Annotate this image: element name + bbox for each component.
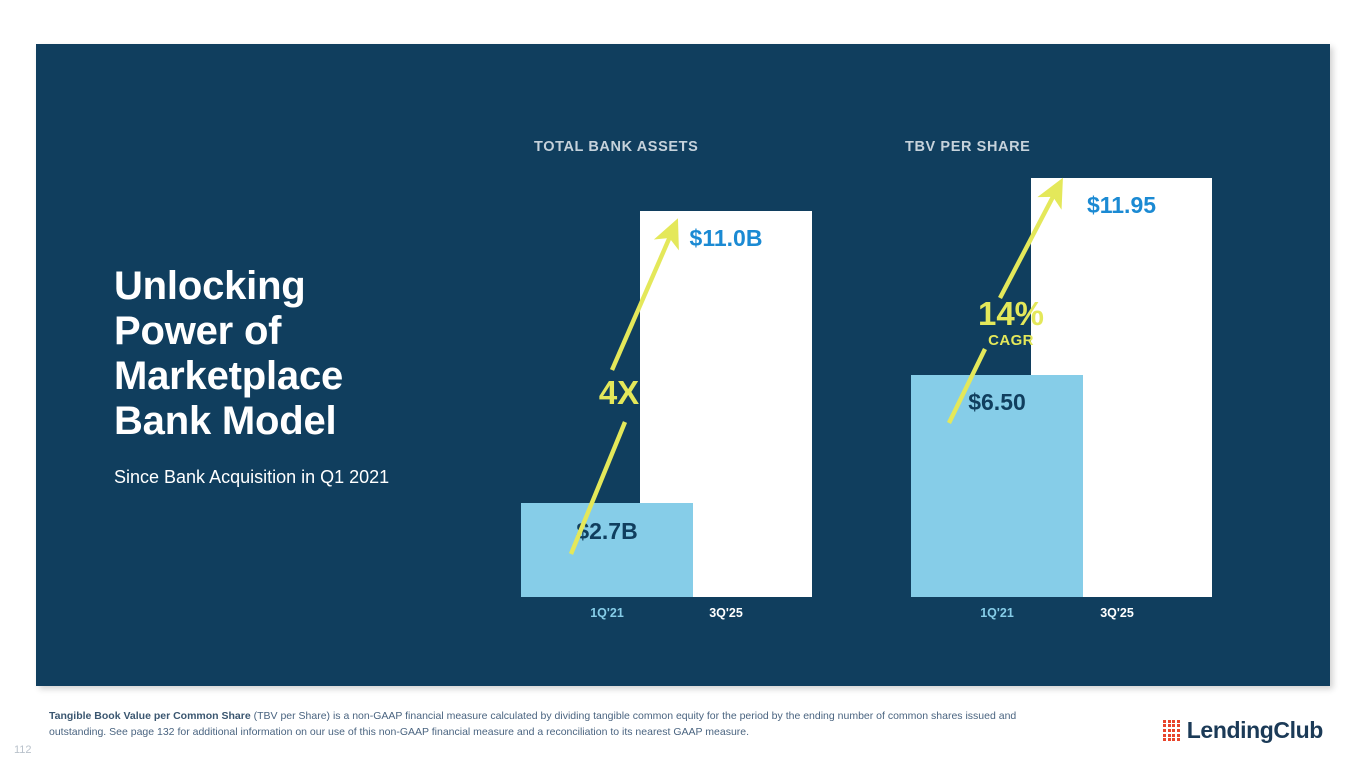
chart-2-callout-cagr-value: 14% — [956, 295, 1066, 333]
lendingclub-logo-text: LendingClub — [1187, 717, 1323, 744]
footnote-lead: Tangible Book Value per Common Share — [49, 710, 251, 722]
chart-2-title: TBV PER SHARE — [905, 139, 1030, 155]
page-number: 112 — [14, 744, 32, 756]
chart-2-callout-cagr-label: CAGR — [956, 332, 1066, 349]
chart-2-axis-label-3q25: 3Q'25 — [1031, 606, 1203, 620]
slide-canvas: Unlocking Power of Marketplace Bank Mode… — [0, 0, 1365, 768]
lendingclub-logo: LendingClub — [1163, 717, 1323, 744]
lendingclub-logo-mark-icon — [1163, 720, 1180, 741]
footnote: Tangible Book Value per Common Share (TB… — [49, 709, 1049, 740]
slide-body: Unlocking Power of Marketplace Bank Mode… — [36, 44, 1330, 686]
chart-tbv-per-share: TBV PER SHARE $11.95 $6.50 1Q'21 3Q'25 — [36, 44, 1330, 686]
